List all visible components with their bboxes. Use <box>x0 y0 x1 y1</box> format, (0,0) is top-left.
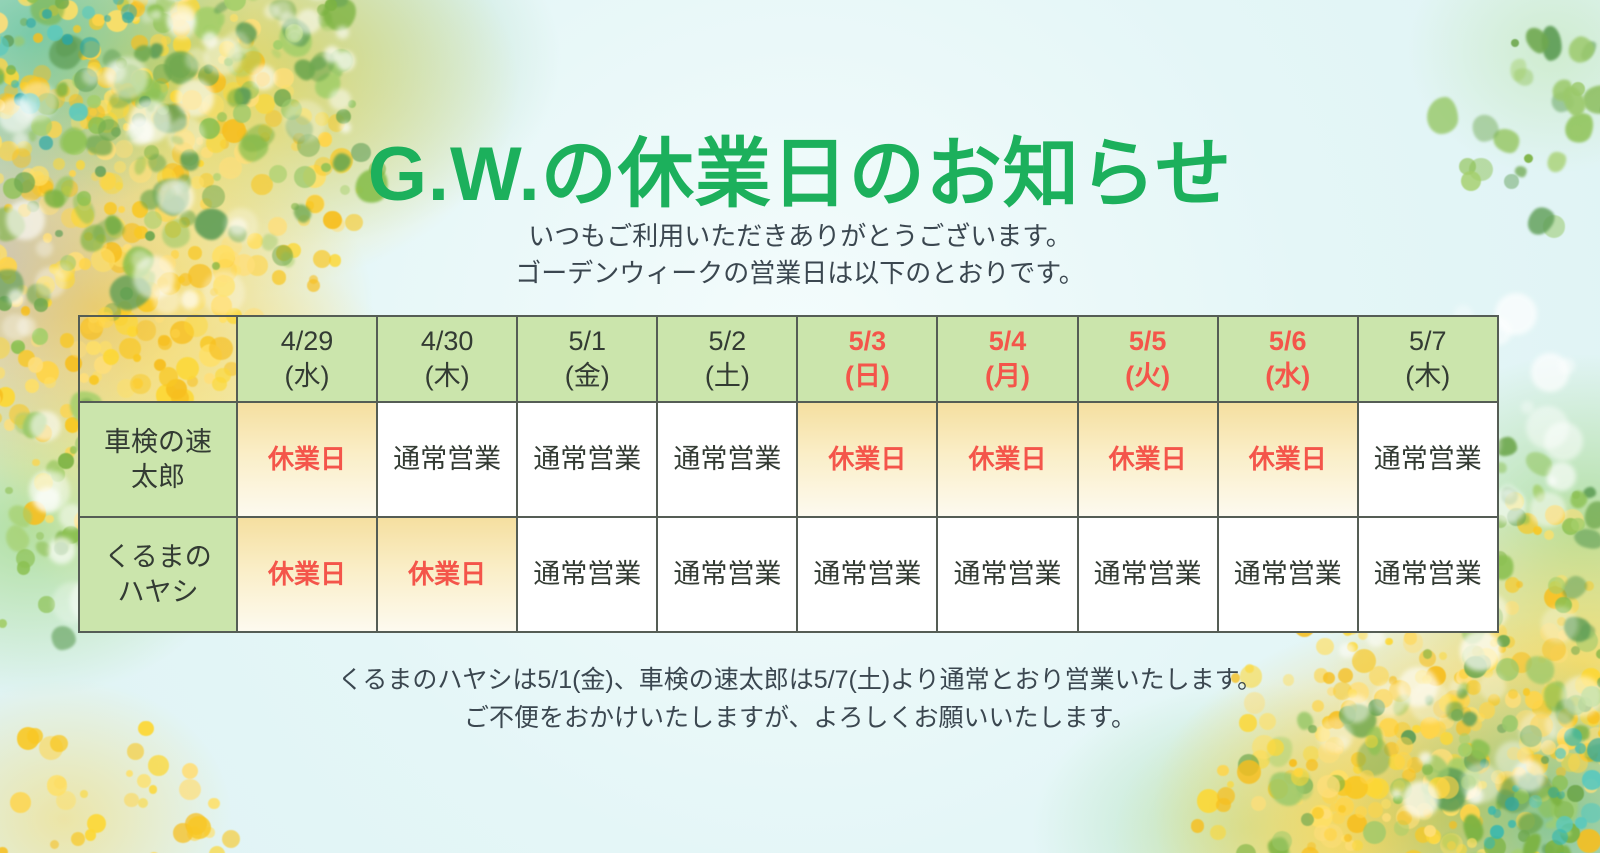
day-date: 5/1 <box>518 324 656 359</box>
day-date: 4/29 <box>238 324 376 359</box>
schedule-table: 4/29(水)4/30(木)5/1(金)5/2(土)5/3(日)5/4(月)5/… <box>78 315 1499 633</box>
day-header-5-3: 5/3(日) <box>797 316 937 402</box>
schedule-table-wrapper: 4/29(水)4/30(木)5/1(金)5/2(土)5/3(日)5/4(月)5/… <box>78 315 1497 633</box>
row-label-0: 車検の速太郎 <box>79 402 237 517</box>
status-cell-open: 通常営業 <box>517 402 657 517</box>
day-date: 5/5 <box>1079 324 1217 359</box>
day-header-5-6: 5/6(水) <box>1218 316 1358 402</box>
day-weekday: (木) <box>1359 359 1497 394</box>
status-cell-open: 通常営業 <box>517 517 657 632</box>
day-header-5-1: 5/1(金) <box>517 316 657 402</box>
status-cell-open: 通常営業 <box>657 517 797 632</box>
status-cell-closed: 休業日 <box>1078 402 1218 517</box>
status-cell-open: 通常営業 <box>1358 517 1498 632</box>
row-label-line-2: ハヤシ <box>80 575 236 610</box>
status-cell-open: 通常営業 <box>377 402 517 517</box>
table-row: くるまのハヤシ休業日休業日通常営業通常営業通常営業通常営業通常営業通常営業通常営… <box>79 517 1498 632</box>
day-weekday: (水) <box>1219 359 1357 394</box>
status-cell-closed: 休業日 <box>237 517 377 632</box>
row-label-line-2: 太郎 <box>80 460 236 495</box>
footer-note: くるまのハヤシは5/1(金)、車検の速太郎は5/7(土)より通常とおり営業いたし… <box>0 662 1600 737</box>
day-weekday: (土) <box>658 359 796 394</box>
day-weekday: (水) <box>238 359 376 394</box>
day-date: 5/7 <box>1359 324 1497 359</box>
day-header-5-2: 5/2(土) <box>657 316 797 402</box>
row-label-line-1: くるまの <box>80 540 236 575</box>
status-cell-open: 通常営業 <box>797 517 937 632</box>
day-date: 5/6 <box>1219 324 1357 359</box>
status-cell-open: 通常営業 <box>1218 517 1358 632</box>
footer-line-1: くるまのハヤシは5/1(金)、車検の速太郎は5/7(土)より通常とおり営業いたし… <box>0 662 1600 700</box>
subtitle-line-2: ゴーデンウィークの営業日は以下のとおりです。 <box>0 255 1600 292</box>
day-weekday: (月) <box>938 359 1076 394</box>
day-header-5-5: 5/5(火) <box>1078 316 1218 402</box>
table-header-row: 4/29(水)4/30(木)5/1(金)5/2(土)5/3(日)5/4(月)5/… <box>79 316 1498 402</box>
subtitle: いつもご利用いただきありがとうございます。 ゴーデンウィークの営業日は以下のとお… <box>0 218 1600 292</box>
status-cell-open: 通常営業 <box>657 402 797 517</box>
status-cell-closed: 休業日 <box>237 402 377 517</box>
notice-content: G.W.の休業日のお知らせ いつもご利用いただきありがとうございます。 ゴーデン… <box>0 0 1600 853</box>
day-date: 4/30 <box>378 324 516 359</box>
status-cell-open: 通常営業 <box>1358 402 1498 517</box>
row-label-line-1: 車検の速 <box>80 425 236 460</box>
status-cell-closed: 休業日 <box>377 517 517 632</box>
day-header-5-4: 5/4(月) <box>937 316 1077 402</box>
status-cell-closed: 休業日 <box>797 402 937 517</box>
day-header-4-29: 4/29(水) <box>237 316 377 402</box>
day-weekday: (火) <box>1079 359 1217 394</box>
status-cell-closed: 休業日 <box>937 402 1077 517</box>
day-date: 5/3 <box>798 324 936 359</box>
day-date: 5/4 <box>938 324 1076 359</box>
table-corner-cell <box>79 316 237 402</box>
status-cell-open: 通常営業 <box>1078 517 1218 632</box>
day-date: 5/2 <box>658 324 796 359</box>
day-weekday: (木) <box>378 359 516 394</box>
day-weekday: (金) <box>518 359 656 394</box>
status-cell-open: 通常営業 <box>937 517 1077 632</box>
table-row: 車検の速太郎休業日通常営業通常営業通常営業休業日休業日休業日休業日通常営業 <box>79 402 1498 517</box>
footer-line-2: ご不便をおかけいたしますが、よろしくお願いいたします。 <box>0 700 1600 738</box>
day-header-4-30: 4/30(木) <box>377 316 517 402</box>
page-title: G.W.の休業日のお知らせ <box>0 112 1600 222</box>
row-label-1: くるまのハヤシ <box>79 517 237 632</box>
day-header-5-7: 5/7(木) <box>1358 316 1498 402</box>
day-weekday: (日) <box>798 359 936 394</box>
status-cell-closed: 休業日 <box>1218 402 1358 517</box>
subtitle-line-1: いつもご利用いただきありがとうございます。 <box>0 218 1600 255</box>
